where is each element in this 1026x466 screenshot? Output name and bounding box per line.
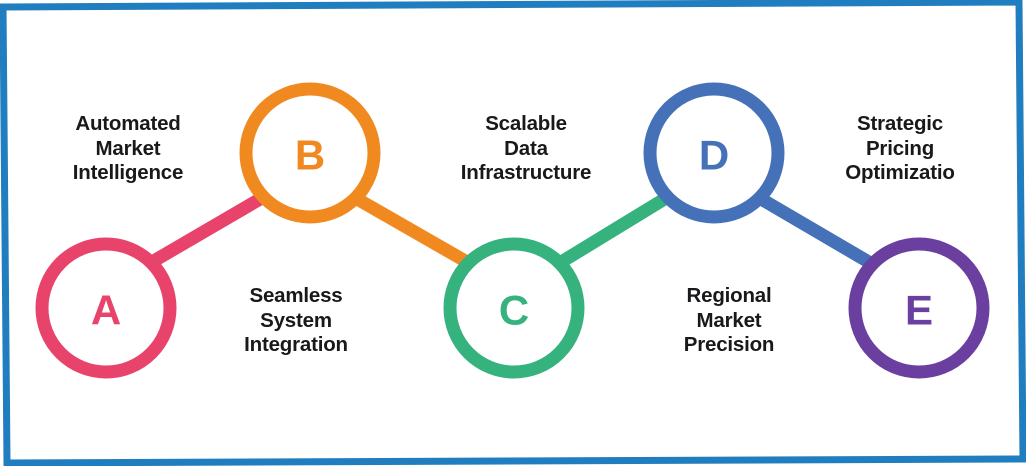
caption-4-line-1: Regional (629, 284, 829, 309)
caption-1-line-3: Intelligence (28, 161, 228, 186)
node-b-letter: B (295, 132, 325, 179)
caption-2-line-1: Seamless (196, 284, 396, 309)
node-a-letter: A (91, 287, 121, 334)
diagram-canvas: A B C D E Automated Market Intelligence … (0, 0, 1026, 466)
connector-b-to-c (352, 196, 474, 266)
connector-d-to-e (756, 196, 879, 268)
node-d-letter: D (699, 132, 729, 179)
caption-5-line-2: Pricing (800, 137, 1000, 162)
caption-3-line-3: Infrastructure (421, 161, 631, 186)
node-e[interactable]: E (855, 244, 983, 372)
caption-1-line-2: Market (28, 137, 228, 162)
node-c-letter: C (499, 287, 529, 334)
caption-automated-market-intelligence: Automated Market Intelligence (28, 112, 228, 186)
caption-2-line-2: System (196, 309, 396, 334)
caption-4-line-3: Precision (629, 333, 829, 358)
caption-regional-market-precision: Regional Market Precision (629, 284, 829, 358)
caption-4-line-2: Market (629, 309, 829, 334)
caption-3-line-1: Scalable (421, 112, 631, 137)
node-e-letter: E (905, 287, 933, 334)
caption-1-line-1: Automated (28, 112, 228, 137)
caption-strategic-pricing-optimization: Strategic Pricing Optimizatio (800, 112, 1000, 186)
caption-5-line-1: Strategic (800, 112, 1000, 137)
nodes-and-connectors: A B C D E (0, 0, 1026, 466)
node-d[interactable]: D (650, 89, 778, 217)
node-b[interactable]: B (246, 89, 374, 217)
node-c[interactable]: C (450, 244, 578, 372)
node-a[interactable]: A (42, 244, 170, 372)
caption-seamless-system-integration: Seamless System Integration (196, 284, 396, 358)
caption-3-line-2: Data (421, 137, 631, 162)
caption-2-line-3: Integration (196, 333, 396, 358)
caption-scalable-data-infrastructure: Scalable Data Infrastructure (421, 112, 631, 186)
caption-5-line-3: Optimizatio (800, 161, 1000, 186)
connector-c-to-d (558, 192, 676, 264)
connector-a-to-b (152, 192, 272, 262)
